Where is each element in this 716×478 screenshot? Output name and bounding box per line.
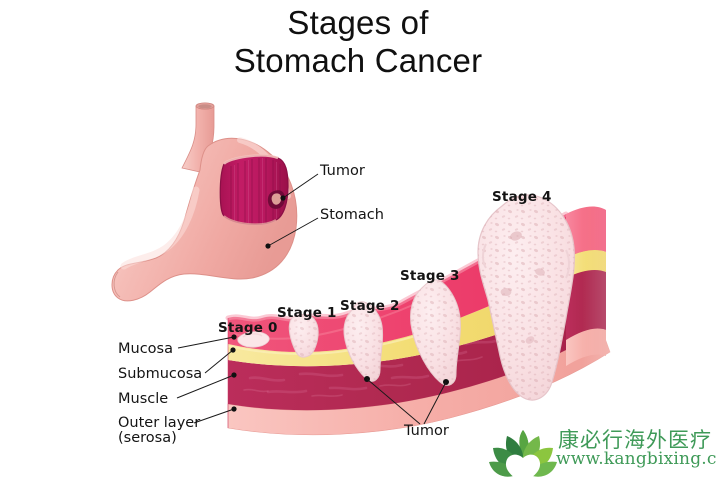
leader-dot-serosa <box>231 406 236 411</box>
label-cross-section-tumor: Tumor <box>404 423 449 439</box>
label-stage-2: Stage 2 <box>340 298 400 314</box>
label-stage-1: Stage 1 <box>277 305 337 321</box>
watermark-url: www.kangbixing.com <box>556 449 716 469</box>
kangbixing-logo-mark <box>489 430 557 478</box>
leader-dot-submucosa <box>230 347 235 352</box>
label-stomach: Stomach <box>320 207 384 223</box>
label-submucosa: Submucosa <box>118 366 202 382</box>
label-mucosa: Mucosa <box>118 341 173 357</box>
label-outer-layer-line1: Outer layer <box>118 416 200 431</box>
label-stomach-tumor: Tumor <box>320 163 365 179</box>
label-stage-0: Stage 0 <box>218 320 278 336</box>
stomach-organ-illustration <box>112 103 297 301</box>
label-outer-layer-line2: (serosa) <box>118 431 200 446</box>
cross-section-right-end <box>566 196 716 376</box>
label-outer-layer: Outer layer (serosa) <box>118 416 200 446</box>
label-stage-3: Stage 3 <box>400 268 460 284</box>
leader-dot-muscle <box>231 372 236 377</box>
label-muscle: Muscle <box>118 391 168 407</box>
illustration-canvas: Stages of Stomach Cancer Tumor Stomach M… <box>0 0 716 478</box>
label-stage-4: Stage 4 <box>492 189 552 205</box>
stomach-cancer-stages-artwork <box>0 0 716 478</box>
